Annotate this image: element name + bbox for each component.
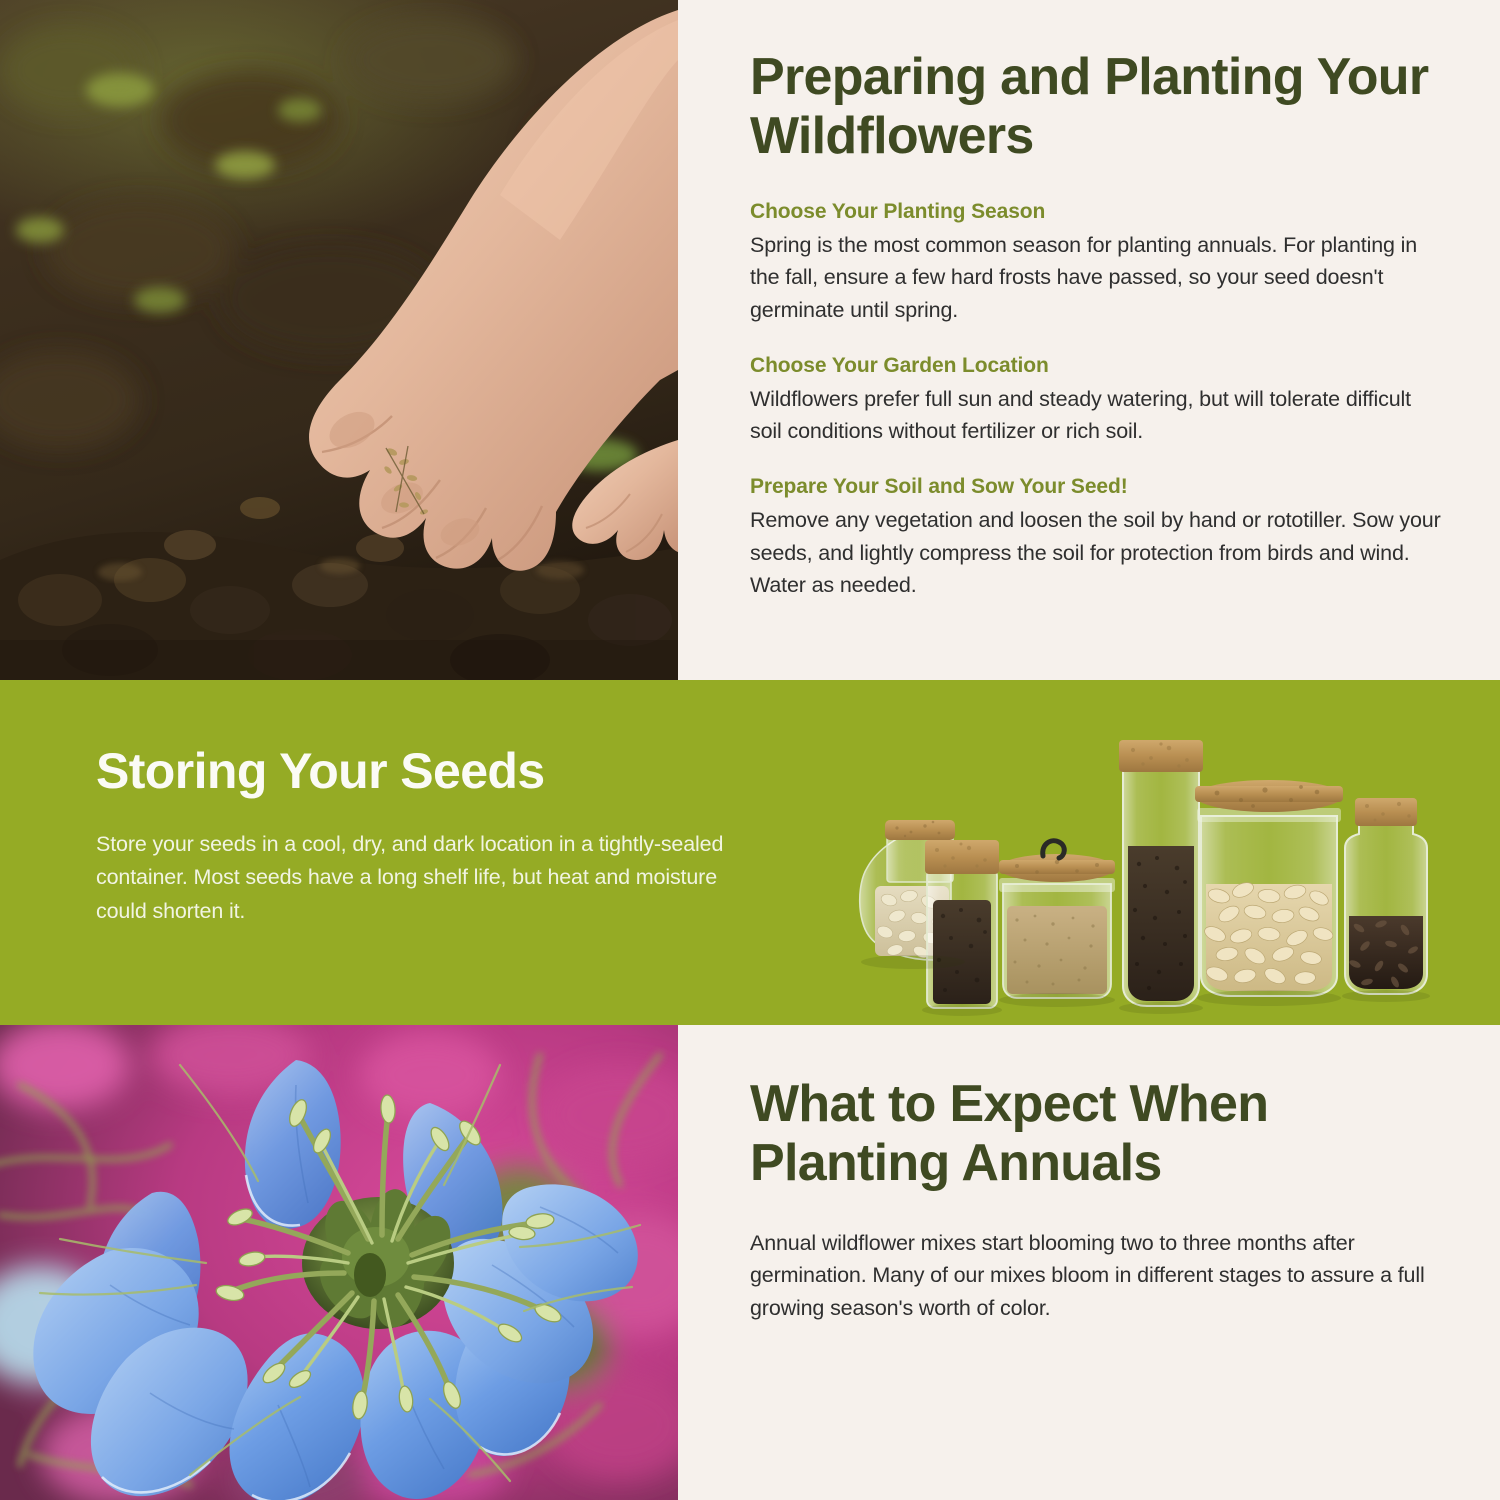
storing-seeds-title: Storing Your Seeds <box>96 742 756 800</box>
section2-text-panel: Storing Your Seeds Store your seeds in a… <box>96 742 756 928</box>
glass-seed-storage-jars-photo <box>845 688 1465 1018</box>
page-title: Preparing and Planting Your Wildflowers <box>750 48 1444 166</box>
body-garden-location: Wildflowers prefer full sun and steady w… <box>750 383 1444 448</box>
section-preparing-planting: Preparing and Planting Your Wildflowers … <box>0 0 1500 680</box>
content-block: Prepare Your Soil and Sow Your Seed! Rem… <box>750 475 1444 602</box>
subheading-planting-season: Choose Your Planting Season <box>750 200 1444 224</box>
section1-text-panel: Preparing and Planting Your Wildflowers … <box>678 0 1500 680</box>
section-what-to-expect: What to Expect When Planting Annuals Ann… <box>0 1025 1500 1500</box>
section3-text-panel: What to Expect When Planting Annuals Ann… <box>678 1025 1500 1500</box>
what-to-expect-title: What to Expect When Planting Annuals <box>750 1075 1430 1193</box>
what-to-expect-body: Annual wildflower mixes start blooming t… <box>750 1227 1430 1325</box>
section-storing-seeds: Storing Your Seeds Store your seeds in a… <box>0 680 1500 1025</box>
storing-seeds-body: Store your seeds in a cool, dry, and dar… <box>96 828 756 928</box>
hand-sowing-seeds-in-soil-photo <box>0 0 678 680</box>
blue-nigella-wildflower-photo <box>0 1025 678 1500</box>
body-planting-season: Spring is the most common season for pla… <box>750 229 1444 327</box>
body-prepare-soil: Remove any vegetation and loosen the soi… <box>750 504 1444 602</box>
subheading-garden-location: Choose Your Garden Location <box>750 354 1444 378</box>
content-block: Choose Your Garden Location Wildflowers … <box>750 354 1444 448</box>
content-block: Choose Your Planting Season Spring is th… <box>750 200 1444 327</box>
subheading-prepare-soil: Prepare Your Soil and Sow Your Seed! <box>750 475 1444 499</box>
infographic-page: Preparing and Planting Your Wildflowers … <box>0 0 1500 1500</box>
